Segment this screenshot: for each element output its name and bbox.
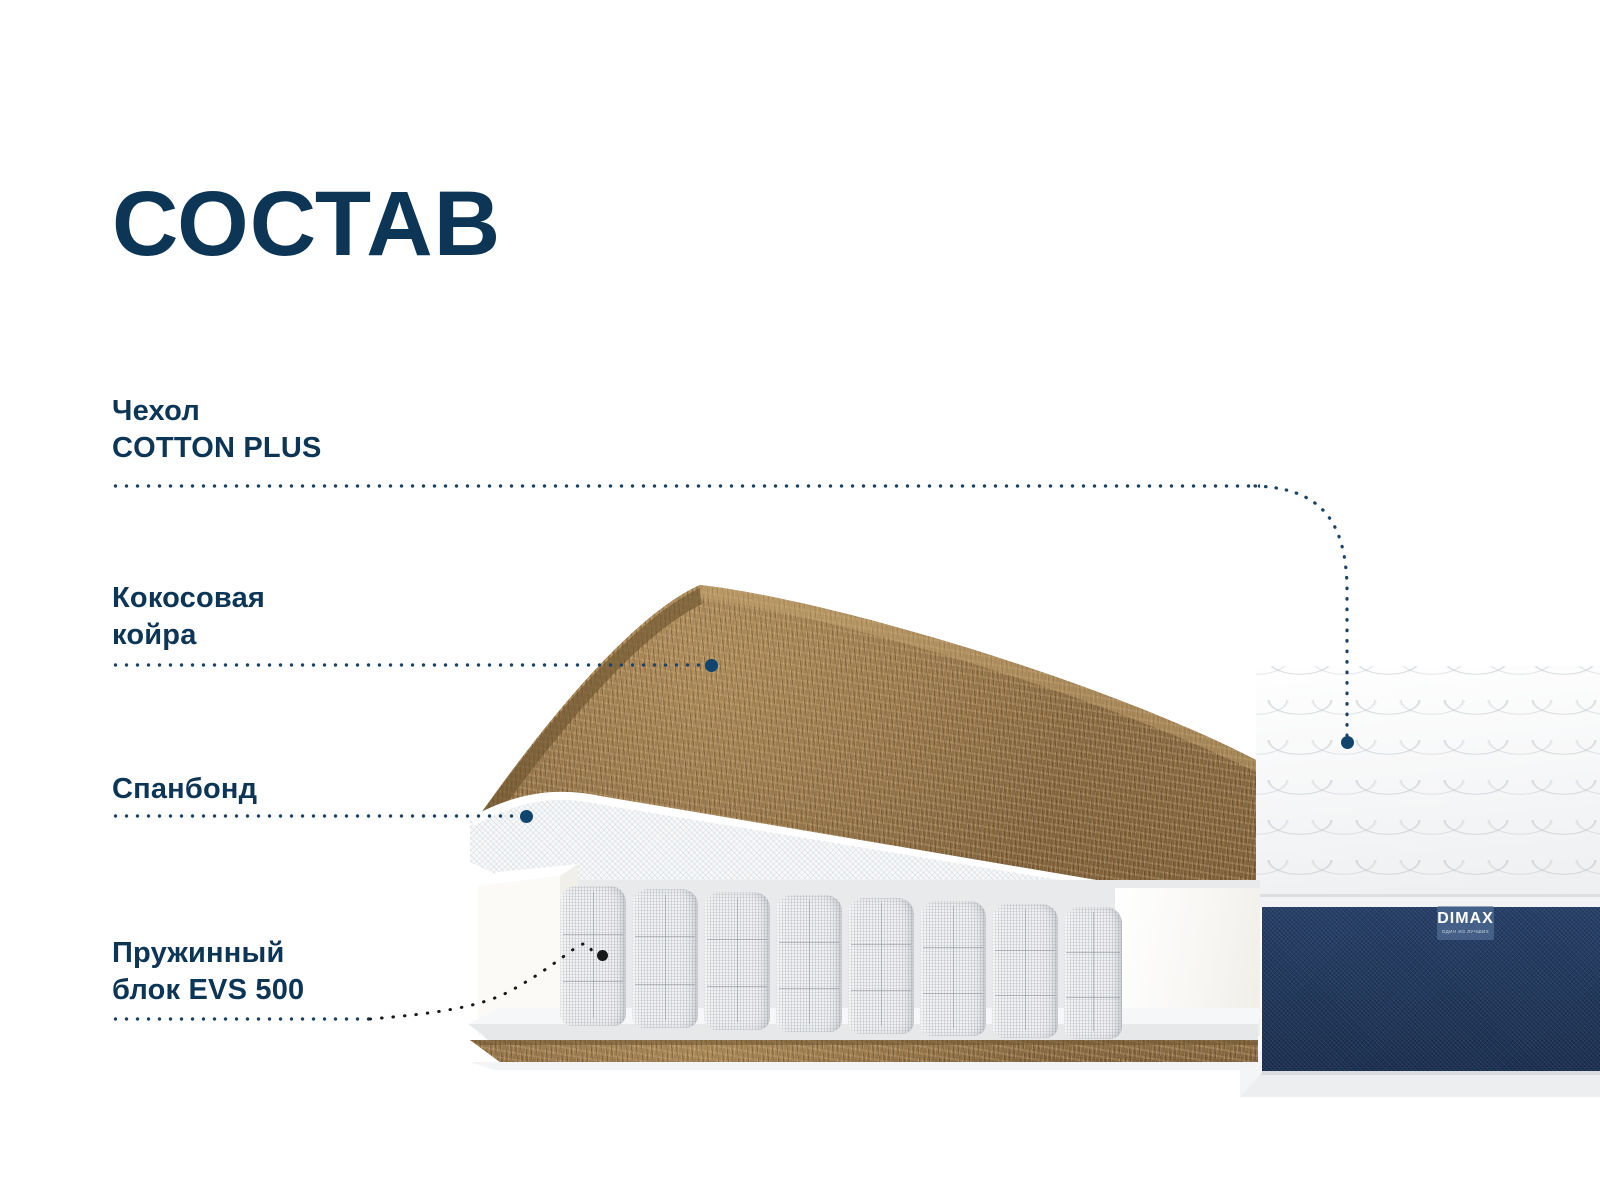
- leader-endpoint-springs: [597, 950, 608, 961]
- leader-curve-springs: [370, 944, 592, 1019]
- leader-curve-springs-svg: [0, 0, 1600, 1201]
- composition-infographic: DIMAX ОДИН ИЗ ЛУЧШИХ СОСТАВ Чехол COTTON…: [0, 0, 1600, 1201]
